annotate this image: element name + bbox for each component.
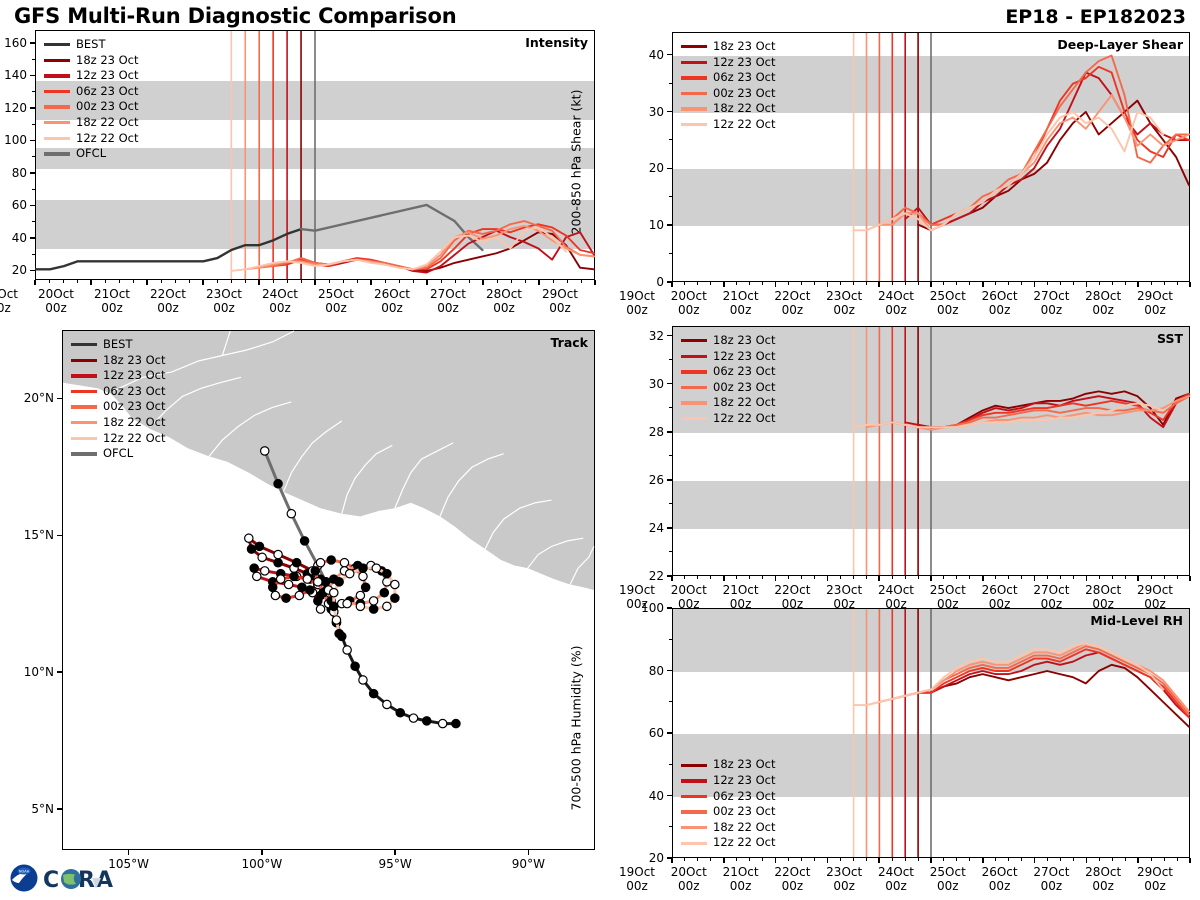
- legend-label: 12z 22 Oct: [76, 131, 139, 147]
- y-tick: [30, 205, 35, 207]
- track-marker-open: [372, 564, 380, 572]
- track-marker-filled: [314, 597, 322, 605]
- track-marker-filled: [452, 719, 460, 727]
- x-tick-day: 29Oct: [1120, 583, 1190, 597]
- x-minor-tick: [956, 576, 957, 579]
- y-tick: [667, 795, 672, 797]
- x-tick: [982, 282, 984, 287]
- x-minor-tick: [119, 280, 120, 283]
- x-minor-tick: [697, 282, 698, 285]
- x-minor-tick: [357, 280, 358, 283]
- x-minor-tick: [684, 282, 685, 285]
- y-tick: [30, 237, 35, 239]
- x-minor-tick: [749, 858, 750, 861]
- x-tick: [827, 282, 829, 287]
- track-marker-filled: [383, 569, 391, 577]
- track-marker-open: [295, 591, 303, 599]
- x-minor-tick: [1112, 576, 1113, 579]
- legend-item[interactable]: 12z 22 Oct: [44, 131, 139, 147]
- legend-label: 12z 23 Oct: [103, 368, 166, 384]
- latitude-label: 10°N: [0, 665, 54, 679]
- x-minor-tick: [581, 280, 582, 283]
- x-minor-tick: [1151, 576, 1152, 579]
- legend-swatch: [681, 810, 707, 813]
- legend-item[interactable]: 12z 22 Oct: [681, 117, 776, 133]
- x-minor-tick: [1021, 576, 1022, 579]
- x-tick: [1137, 576, 1139, 581]
- legend-label: 12z 23 Oct: [713, 773, 776, 789]
- x-minor-tick: [710, 576, 711, 579]
- legend-swatch: [681, 123, 707, 126]
- longitude-label: 95°W: [355, 857, 435, 871]
- y-tick-label: 30: [614, 105, 664, 119]
- track-marker-filled: [423, 717, 431, 725]
- x-minor-tick: [995, 858, 996, 861]
- track-marker-open: [391, 580, 399, 588]
- svg-text:NOAA: NOAA: [19, 870, 30, 874]
- panel-title: Intensity: [525, 35, 588, 50]
- legend-swatch: [681, 386, 707, 389]
- x-minor-tick: [1125, 576, 1126, 579]
- legend-label: 00z 23 Oct: [713, 86, 776, 102]
- legend-item[interactable]: 18z 23 Oct: [681, 333, 776, 349]
- legend-swatch: [681, 355, 707, 358]
- x-minor-tick: [762, 576, 763, 579]
- legend-swatch: [681, 764, 707, 767]
- x-minor-tick: [801, 282, 802, 285]
- y-minor-tick: [669, 701, 672, 702]
- y-minor-tick: [669, 764, 672, 765]
- x-tick: [202, 280, 204, 285]
- x-minor-tick: [1177, 858, 1178, 861]
- legend-label: 06z 23 Oct: [713, 70, 776, 86]
- y-minor-tick: [669, 359, 672, 360]
- y-tick: [667, 607, 672, 609]
- legend-swatch: [681, 842, 707, 845]
- y-tick-label: 20: [614, 851, 664, 865]
- x-tick: [1034, 858, 1036, 863]
- map-y-tick: [57, 535, 62, 537]
- x-minor-tick: [840, 576, 841, 579]
- y-minor-tick: [669, 826, 672, 827]
- x-minor-tick: [1112, 858, 1113, 861]
- x-tick: [1034, 576, 1036, 581]
- series-line: [36, 229, 301, 269]
- panel-title: Track: [551, 335, 588, 350]
- panel-track[interactable]: TrackBEST18z 23 Oct12z 23 Oct06z 23 Oct0…: [62, 330, 595, 850]
- legend-label: 18z 22 Oct: [713, 820, 776, 836]
- x-minor-tick: [413, 280, 414, 283]
- x-minor-tick: [469, 280, 470, 283]
- x-minor-tick: [956, 282, 957, 285]
- legend-swatch: [71, 452, 97, 455]
- x-minor-tick: [63, 280, 64, 283]
- track-marker-open: [359, 572, 367, 580]
- legend-item[interactable]: 12z 22 Oct: [681, 411, 776, 427]
- x-tick: [1086, 282, 1088, 287]
- track-marker-open: [287, 510, 295, 518]
- legend-swatch: [71, 390, 97, 393]
- x-minor-tick: [1112, 282, 1113, 285]
- y-tick-label: 40: [0, 231, 27, 245]
- track-marker-filled: [274, 480, 282, 488]
- legend-label: 12z 23 Oct: [713, 349, 776, 365]
- x-minor-tick: [749, 576, 750, 579]
- storm-id-label: EP18 - EP182023: [1005, 6, 1186, 28]
- legend-item[interactable]: 18z 22 Oct: [681, 820, 776, 836]
- x-minor-tick: [943, 576, 944, 579]
- track-marker-filled: [311, 567, 319, 575]
- legend-item[interactable]: 06z 23 Oct: [71, 384, 166, 400]
- track-marker-open: [258, 553, 266, 561]
- legend-swatch: [71, 374, 97, 377]
- legend-swatch: [681, 417, 707, 420]
- y-tick: [667, 111, 672, 113]
- legend-item[interactable]: 18z 22 Oct: [681, 101, 776, 117]
- y-tick: [30, 270, 35, 272]
- map-x-tick: [128, 850, 130, 855]
- track-marker-open: [356, 591, 364, 599]
- map-x-tick: [394, 850, 396, 855]
- legend-item[interactable]: 06z 23 Oct: [681, 789, 776, 805]
- track-marker-filled: [274, 559, 282, 567]
- track-marker-filled: [369, 605, 377, 613]
- x-minor-tick: [736, 858, 737, 861]
- x-tick-day: 29Oct: [525, 287, 595, 301]
- legend-label: 00z 23 Oct: [103, 399, 166, 415]
- x-tick: [1137, 858, 1139, 863]
- latitude-label: 5°N: [0, 802, 54, 816]
- x-minor-tick: [710, 282, 711, 285]
- legend: 18z 23 Oct12z 23 Oct06z 23 Oct00z 23 Oct…: [681, 39, 776, 133]
- track-marker-open: [303, 575, 311, 583]
- legend-item[interactable]: 12z 22 Oct: [71, 431, 166, 447]
- x-tick: [878, 858, 880, 863]
- x-minor-tick: [1164, 282, 1165, 285]
- x-minor-tick: [189, 280, 190, 283]
- track-marker-open: [330, 589, 338, 597]
- x-minor-tick: [1099, 576, 1100, 579]
- y-tick: [667, 431, 672, 433]
- x-minor-tick: [853, 576, 854, 579]
- y-minor-tick: [669, 551, 672, 552]
- x-minor-tick: [892, 282, 893, 285]
- legend: BEST18z 23 Oct12z 23 Oct06z 23 Oct00z 23…: [44, 37, 139, 162]
- x-tick-label: 29Oct00z: [525, 287, 595, 315]
- x-tick: [982, 858, 984, 863]
- x-minor-tick: [1151, 858, 1152, 861]
- x-minor-tick: [1021, 282, 1022, 285]
- legend-item[interactable]: 12z 23 Oct: [71, 368, 166, 384]
- x-minor-tick: [788, 282, 789, 285]
- x-minor-tick: [1099, 282, 1100, 285]
- x-minor-tick: [245, 280, 246, 283]
- track-marker-open: [409, 714, 417, 722]
- series-line: [918, 101, 1189, 231]
- track-marker-open: [343, 599, 351, 607]
- x-minor-tick: [1047, 282, 1048, 285]
- y-tick: [30, 172, 35, 174]
- track-marker-filled: [391, 594, 399, 602]
- y-tick: [30, 140, 35, 142]
- x-minor-tick: [995, 282, 996, 285]
- x-minor-tick: [175, 280, 176, 283]
- x-tick: [1189, 858, 1191, 863]
- legend-item[interactable]: 00z 23 Oct: [681, 380, 776, 396]
- x-minor-tick: [905, 576, 906, 579]
- track-marker-filled: [369, 689, 377, 697]
- x-minor-tick: [918, 576, 919, 579]
- legend-swatch: [681, 61, 707, 64]
- x-minor-tick: [956, 858, 957, 861]
- legend-item[interactable]: 12z 23 Oct: [681, 55, 776, 71]
- y-minor-tick: [32, 254, 35, 255]
- x-tick-label: 29Oct00z: [1120, 865, 1190, 893]
- legend-item[interactable]: 06z 23 Oct: [44, 84, 139, 100]
- track-marker-filled: [250, 564, 258, 572]
- y-tick: [667, 335, 672, 337]
- legend-label: 18z 22 Oct: [713, 395, 776, 411]
- x-minor-tick: [77, 280, 78, 283]
- y-tick-label: 60: [0, 198, 27, 212]
- x-tick: [482, 280, 484, 285]
- track-marker-filled: [327, 556, 335, 564]
- x-tick: [723, 858, 725, 863]
- legend-item[interactable]: BEST: [44, 37, 139, 53]
- track-marker-filled: [322, 578, 330, 586]
- x-tick: [775, 282, 777, 287]
- y-tick: [667, 224, 672, 226]
- map-x-tick: [261, 850, 263, 855]
- y-tick-label: 100: [0, 133, 27, 147]
- x-minor-tick: [866, 858, 867, 861]
- track-marker-filled: [361, 583, 369, 591]
- legend-item[interactable]: 12z 23 Oct: [681, 349, 776, 365]
- legend-item[interactable]: 12z 22 Oct: [681, 835, 776, 851]
- legend-label: 06z 23 Oct: [713, 789, 776, 805]
- x-tick: [671, 282, 673, 287]
- track-marker-open: [316, 605, 324, 613]
- x-minor-tick: [905, 282, 906, 285]
- track-marker-open: [276, 575, 284, 583]
- x-minor-tick: [1177, 282, 1178, 285]
- x-minor-tick: [301, 280, 302, 283]
- legend-label: 12z 22 Oct: [713, 411, 776, 427]
- y-tick-label: 40: [614, 789, 664, 803]
- y-minor-tick: [669, 139, 672, 140]
- x-tick: [827, 576, 829, 581]
- track-marker-filled: [290, 572, 298, 580]
- x-tick-label: 29Oct00z: [1120, 289, 1190, 317]
- x-minor-tick: [441, 280, 442, 283]
- x-minor-tick: [892, 858, 893, 861]
- legend-item[interactable]: 06z 23 Oct: [681, 70, 776, 86]
- track-marker-filled: [330, 602, 338, 610]
- track-marker-filled: [380, 589, 388, 597]
- x-minor-tick: [1008, 858, 1009, 861]
- y-minor-tick: [669, 503, 672, 504]
- x-tick: [671, 576, 673, 581]
- legend-label: 00z 23 Oct: [713, 804, 776, 820]
- legend-swatch: [681, 826, 707, 829]
- x-tick: [671, 858, 673, 863]
- x-minor-tick: [511, 280, 512, 283]
- y-tick: [30, 42, 35, 44]
- x-tick: [878, 576, 880, 581]
- legend-swatch: [44, 152, 70, 155]
- legend-item[interactable]: 18z 23 Oct: [681, 39, 776, 55]
- x-minor-tick: [1047, 858, 1048, 861]
- x-minor-tick: [1060, 858, 1061, 861]
- x-tick: [930, 858, 932, 863]
- y-tick: [667, 732, 672, 734]
- x-minor-tick: [814, 282, 815, 285]
- track-marker-open: [245, 534, 253, 542]
- y-minor-tick: [669, 83, 672, 84]
- legend-item[interactable]: 18z 22 Oct: [44, 115, 139, 131]
- x-tick: [258, 280, 260, 285]
- y-tick-label: 40: [614, 48, 664, 62]
- x-minor-tick: [525, 280, 526, 283]
- x-minor-tick: [343, 280, 344, 283]
- x-minor-tick: [217, 280, 218, 283]
- x-minor-tick: [801, 858, 802, 861]
- track-marker-open: [438, 719, 446, 727]
- x-minor-tick: [399, 280, 400, 283]
- x-minor-tick: [969, 576, 970, 579]
- legend-swatch: [71, 437, 97, 440]
- legend-swatch: [71, 405, 97, 408]
- track-marker-open: [332, 616, 340, 624]
- x-minor-tick: [969, 282, 970, 285]
- x-minor-tick: [385, 280, 386, 283]
- legend-label: 12z 22 Oct: [713, 117, 776, 133]
- x-minor-tick: [1125, 282, 1126, 285]
- legend-label: 12z 23 Oct: [713, 55, 776, 71]
- track-marker-filled: [255, 542, 263, 550]
- legend-swatch: [681, 370, 707, 373]
- map-y-tick: [57, 398, 62, 400]
- legend-swatch: [681, 107, 707, 110]
- legend-label: 12z 22 Oct: [713, 835, 776, 851]
- y-tick-label: 20: [0, 263, 27, 277]
- legend-swatch: [44, 59, 70, 62]
- x-tick: [90, 280, 92, 285]
- x-minor-tick: [853, 858, 854, 861]
- x-minor-tick: [684, 576, 685, 579]
- legend-item[interactable]: 00z 23 Oct: [44, 99, 139, 115]
- legend-item[interactable]: BEST: [71, 337, 166, 353]
- x-tick: [775, 576, 777, 581]
- x-minor-tick: [1164, 576, 1165, 579]
- legend-item[interactable]: 18z 23 Oct: [44, 53, 139, 69]
- series-line: [301, 205, 482, 250]
- x-minor-tick: [943, 858, 944, 861]
- legend-item[interactable]: 18z 22 Oct: [681, 395, 776, 411]
- legend-swatch: [44, 105, 70, 108]
- track-marker-open: [316, 559, 324, 567]
- y-tick: [667, 670, 672, 672]
- legend-swatch: [44, 43, 70, 46]
- x-tick: [34, 280, 36, 285]
- x-minor-tick: [840, 858, 841, 861]
- legend-label: OFCL: [76, 146, 106, 162]
- legend-swatch: [44, 121, 70, 124]
- x-minor-tick: [1151, 282, 1152, 285]
- legend-item[interactable]: 18z 23 Oct: [71, 353, 166, 369]
- x-tick: [930, 282, 932, 287]
- track-marker-open: [383, 602, 391, 610]
- x-minor-tick: [1008, 576, 1009, 579]
- x-tick-hour: 00z: [525, 301, 595, 315]
- x-tick-day: 29Oct: [1120, 289, 1190, 303]
- track-marker-filled: [396, 709, 404, 717]
- y-minor-tick: [32, 221, 35, 222]
- x-minor-tick: [762, 858, 763, 861]
- x-minor-tick: [697, 858, 698, 861]
- y-minor-tick: [32, 59, 35, 60]
- x-minor-tick: [788, 858, 789, 861]
- x-minor-tick: [866, 576, 867, 579]
- track-marker-open: [383, 700, 391, 708]
- track-marker-open: [274, 550, 282, 558]
- y-tick: [667, 383, 672, 385]
- track-marker-open: [369, 597, 377, 605]
- legend-item[interactable]: 18z 23 Oct: [681, 757, 776, 773]
- x-tick: [1086, 858, 1088, 863]
- legend-label: OFCL: [103, 446, 133, 462]
- legend-label: 18z 23 Oct: [713, 757, 776, 773]
- legend-item[interactable]: 00z 23 Oct: [681, 804, 776, 820]
- panel-shear: Deep-Layer Shear18z 23 Oct12z 23 Oct06z …: [672, 32, 1190, 282]
- x-minor-tick: [995, 576, 996, 579]
- legend-item[interactable]: OFCL: [44, 146, 139, 162]
- legend-item[interactable]: OFCL: [71, 446, 166, 462]
- y-minor-tick: [32, 91, 35, 92]
- x-minor-tick: [762, 282, 763, 285]
- y-tick-label: 80: [0, 166, 27, 180]
- legend-item[interactable]: 00z 23 Oct: [71, 399, 166, 415]
- track-marker-open: [284, 580, 292, 588]
- track-marker-open: [346, 569, 354, 577]
- y-minor-tick: [669, 639, 672, 640]
- latitude-label: 20°N: [0, 391, 54, 405]
- legend-item[interactable]: 06z 23 Oct: [681, 364, 776, 380]
- legend-item[interactable]: 12z 23 Oct: [44, 68, 139, 84]
- x-tick: [723, 282, 725, 287]
- x-minor-tick: [736, 576, 737, 579]
- y-tick-label: 120: [0, 101, 27, 115]
- y-tick: [667, 527, 672, 529]
- track-marker-filled: [282, 594, 290, 602]
- y-tick-label: 80: [614, 664, 664, 678]
- legend-item[interactable]: 00z 23 Oct: [681, 86, 776, 102]
- x-tick-hour: 00z: [1120, 303, 1190, 317]
- longitude-label: 90°W: [488, 857, 568, 871]
- legend-label: BEST: [76, 37, 105, 53]
- x-minor-tick: [801, 576, 802, 579]
- x-tick: [878, 282, 880, 287]
- x-tick-hour: 00z: [1120, 879, 1190, 893]
- x-tick-day: 29Oct: [1120, 865, 1190, 879]
- legend-item[interactable]: 18z 22 Oct: [71, 415, 166, 431]
- legend-item[interactable]: 12z 23 Oct: [681, 773, 776, 789]
- x-minor-tick: [1021, 858, 1022, 861]
- legend-label: 00z 23 Oct: [76, 99, 139, 115]
- legend-label: 18z 23 Oct: [713, 39, 776, 55]
- x-tick: [1137, 282, 1139, 287]
- legend-label: 18z 22 Oct: [103, 415, 166, 431]
